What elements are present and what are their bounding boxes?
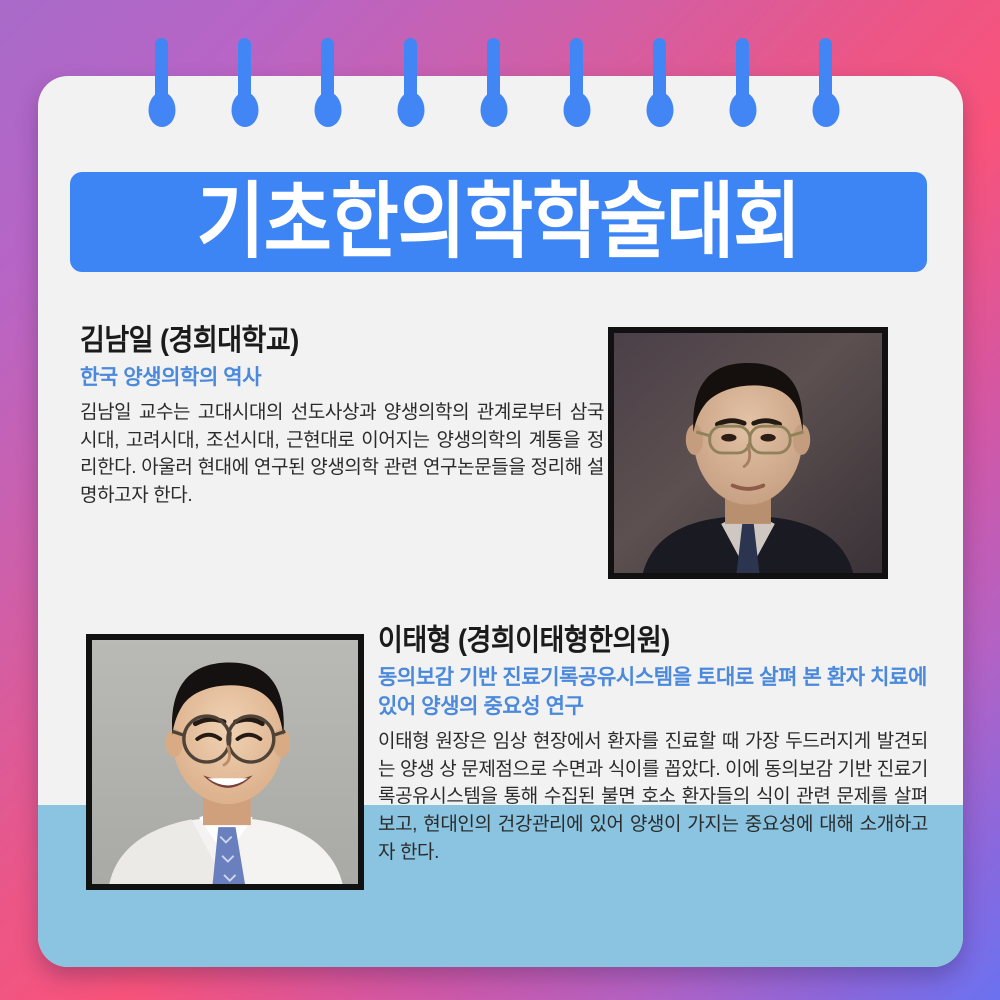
portrait-photo-image	[614, 333, 882, 573]
speaker-1-topic: 한국 양생의학의 역사	[80, 364, 604, 393]
speaker-2-photo	[86, 634, 364, 890]
speaker-1-text: 김남일 (경희대학교) 한국 양생의학의 역사 김남일 교수는 고대시대의 선도…	[38, 316, 604, 510]
page-title: 기초한의학학술대회	[197, 181, 801, 264]
speaker-1-name: 김남일 (경희대학교)	[80, 316, 604, 359]
speaker-1-photo	[608, 327, 888, 579]
speaker-2-topic: 동의보감 기반 진료기록공유시스템을 토대로 살펴 본 환자 치료에 있어 양생…	[378, 664, 928, 722]
portrait-photo-image	[92, 640, 358, 884]
title-banner: 기초한의학학술대회	[70, 172, 927, 272]
poster-root: 기초한의학학술대회 김남일 (경희대학교) 한국 양생의학의 역사 김남일 교수…	[0, 0, 1000, 1000]
speaker-2-text: 이태형 (경희이태형한의원) 동의보감 기반 진료기록공유시스템을 토대로 살펴…	[368, 616, 928, 867]
notepad-card: 기초한의학학술대회 김남일 (경희대학교) 한국 양생의학의 역사 김남일 교수…	[38, 76, 963, 967]
speaker-2-description: 이태형 원장은 임상 현장에서 환자를 진료할 때 가장 두드러지게 발견되는 …	[378, 728, 928, 867]
speaker-2-name: 이태형 (경희이태형한의원)	[378, 616, 928, 659]
speaker-1-description: 김남일 교수는 고대시대의 선도사상과 양생의학의 관계로부터 삼국시대, 고려…	[80, 399, 604, 510]
